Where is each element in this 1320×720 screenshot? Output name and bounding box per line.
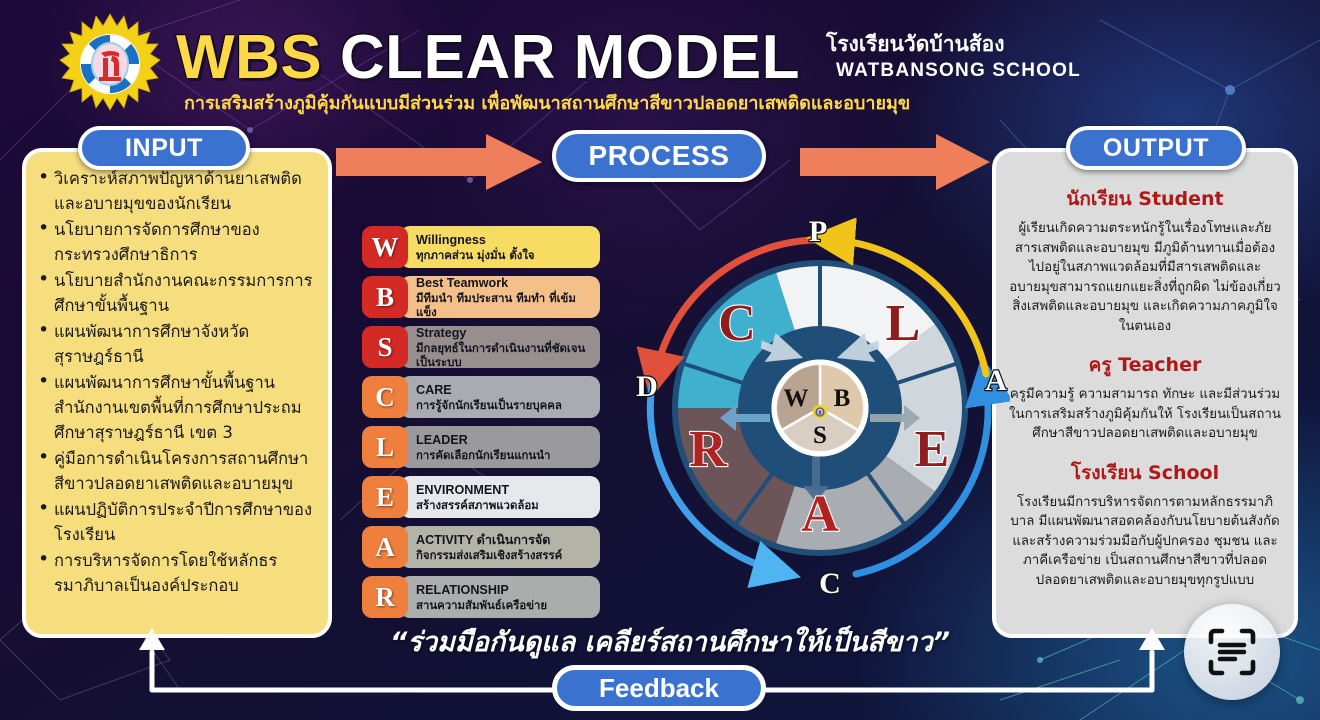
clear-row-e: E ENVIRONMENT สร้างสรรค์สภาพแวดล้อม	[362, 476, 600, 518]
clear-row-w: W Willingness ทุกภาคส่วน มุ่งมั่น ตั้งใจ	[362, 226, 600, 268]
infographic-canvas: WBS CLEAR MODEL โรงเรียนวัดบ้านส้อง WATB…	[0, 0, 1320, 720]
clear-acronym-list: W Willingness ทุกภาคส่วน มุ่งมั่น ตั้งใจ…	[362, 226, 600, 626]
page-header: WBS CLEAR MODEL โรงเรียนวัดบ้านส้อง WATB…	[0, 0, 1320, 126]
school-emblem-icon	[58, 12, 162, 116]
school-name-thai: โรงเรียนวัดบ้านส้อง	[826, 28, 1005, 61]
clear-row-c: C CARE การรู้จักนักเรียนเป็นรายบุคคล	[362, 376, 600, 418]
output-panel: นักเรียน Student ผู้เรียนเกิดความตระหนัก…	[992, 148, 1298, 638]
wheel-letter-a: A	[801, 486, 839, 543]
output-heading-school: โรงเรียน School	[1008, 458, 1282, 488]
list-item: นโยบายการจัดการศึกษาของกระทรวงศึกษาธิการ	[32, 217, 316, 267]
wheel-letter-e: E	[915, 421, 950, 478]
clear-letter-badge: S	[362, 326, 408, 368]
clear-letter-badge: A	[362, 526, 408, 568]
output-heading-student: นักเรียน Student	[1008, 184, 1282, 214]
clear-row-s: S Strategy มีกลยุทธ์ในการดำเนินงานที่ชัด…	[362, 326, 600, 368]
section-header-process: PROCESS	[552, 130, 766, 182]
pdca-label-a: A	[985, 364, 1007, 397]
clear-title-en: RELATIONSHIP	[416, 583, 592, 598]
hub-letter-w: W	[784, 385, 809, 412]
wheel-letter-r: R	[689, 421, 728, 478]
feedback-label: Feedback	[552, 665, 766, 711]
pdca-label-d: D	[636, 370, 658, 403]
page-title: WBS CLEAR MODEL	[176, 20, 800, 96]
pdca-label-c: C	[819, 567, 841, 598]
clear-wheel-diagram: W B S C L E A R P D C A	[630, 218, 1010, 598]
output-body-teacher: ครูมีความรู้ ความสามารถ ทักษะ และมีส่วนร…	[1008, 385, 1282, 444]
clear-title-en: ENVIRONMENT	[416, 483, 592, 498]
clear-letter-badge: B	[362, 276, 408, 318]
clear-letter-badge: C	[362, 376, 408, 418]
pdca-label-p: P	[809, 218, 827, 248]
text-scan-button[interactable]	[1184, 604, 1280, 700]
list-item: แผนพัฒนาการศึกษาขั้นพื้นฐานสำนักงานเขตพื…	[32, 370, 316, 445]
school-name-english: WATBANSONG SCHOOL	[836, 60, 1081, 82]
wheel-letter-l: L	[886, 295, 921, 352]
clear-title-en: ACTIVITY ดำเนินการจัด	[416, 533, 592, 548]
slogan-text: “ร่วมมือกันดูแล เคลียร์สถานศึกษาให้เป็นส…	[340, 620, 1000, 663]
clear-row-a: A ACTIVITY ดำเนินการจัด กิจกรรมส่งเสริมเ…	[362, 526, 600, 568]
clear-title-th: มีทีมนำ ทีมประสาน ทีมทำ ที่เข้มแข็ง	[416, 291, 592, 319]
title-wbs: WBS	[176, 23, 322, 92]
title-clear-model: CLEAR MODEL	[322, 23, 800, 92]
section-header-output: OUTPUT	[1066, 126, 1246, 170]
clear-title-th: สร้างสรรค์สภาพแวดล้อม	[416, 498, 592, 512]
clear-title-th: การรู้จักนักเรียนเป็นรายบุคคล	[416, 398, 592, 412]
clear-title-th: สานความสัมพันธ์เครือข่าย	[416, 598, 592, 612]
clear-title-en: CARE	[416, 383, 592, 398]
list-item: วิเคราะห์สภาพปัญหาด้านยาเสพติดและอบายมุข…	[32, 166, 316, 216]
clear-letter-badge: E	[362, 476, 408, 518]
clear-row-r: R RELATIONSHIP สานความสัมพันธ์เครือข่าย	[362, 576, 600, 618]
output-body-student: ผู้เรียนเกิดความตระหนักรู้ในเรื่องโทษและ…	[1008, 219, 1282, 336]
clear-title-en: Willingness	[416, 233, 592, 248]
list-item: คู่มือการดำเนินโครงการสถานศึกษาสีขาวปลอด…	[32, 446, 316, 496]
arrow-process-to-output-icon	[800, 134, 990, 190]
clear-letter-badge: R	[362, 576, 408, 618]
clear-letter-badge: W	[362, 226, 408, 268]
list-item: แผนปฏิบัติการประจำปีการศึกษาของโรงเรียน	[32, 497, 316, 547]
arrow-input-to-process-icon	[336, 134, 542, 190]
input-list: วิเคราะห์สภาพปัญหาด้านยาเสพติดและอบายมุข…	[32, 166, 316, 598]
clear-title-th: การคัดเลือกนักเรียนแกนนำ	[416, 448, 592, 462]
wheel-letter-c: C	[718, 295, 756, 352]
list-item: นโยบายสำนักงานคณะกรรมการการศึกษาขั้นพื้น…	[32, 268, 316, 318]
page-subtitle: การเสริมสร้างภูมิคุ้มกันแบบมีส่วนร่วม เพ…	[184, 88, 910, 117]
clear-letter-badge: L	[362, 426, 408, 468]
clear-title-en: LEADER	[416, 433, 592, 448]
input-panel: วิเคราะห์สภาพปัญหาด้านยาเสพติดและอบายมุข…	[22, 148, 332, 638]
text-scan-icon	[1206, 626, 1258, 678]
clear-title-th: ทุกภาคส่วน มุ่งมั่น ตั้งใจ	[416, 248, 592, 262]
hub-letter-b: B	[834, 385, 851, 412]
hub-letter-s: S	[813, 422, 827, 449]
section-header-input: INPUT	[78, 126, 250, 170]
list-item: การบริหารจัดการโดยใช้หลักธรรมาภิบาลเป็นอ…	[32, 548, 316, 598]
clear-row-b: B Best Teamwork มีทีมนำ ทีมประสาน ทีมทำ …	[362, 276, 600, 318]
clear-title-en: Strategy	[416, 326, 592, 341]
clear-title-th: มีกลยุทธ์ในการดำเนินงานที่ชัดเจน เป็นระบ…	[416, 341, 592, 369]
output-body-school: โรงเรียนมีการบริหารจัดการตามหลักธรรมาภิบ…	[1008, 493, 1282, 591]
clear-row-l: L LEADER การคัดเลือกนักเรียนแกนนำ	[362, 426, 600, 468]
list-item: แผนพัฒนาการศึกษาจังหวัดสุราษฎร์ธานี	[32, 319, 316, 369]
clear-title-th: กิจกรรมส่งเสริมเชิงสร้างสรรค์	[416, 548, 592, 562]
clear-title-en: Best Teamwork	[416, 276, 592, 291]
output-heading-teacher: ครู Teacher	[1008, 350, 1282, 380]
